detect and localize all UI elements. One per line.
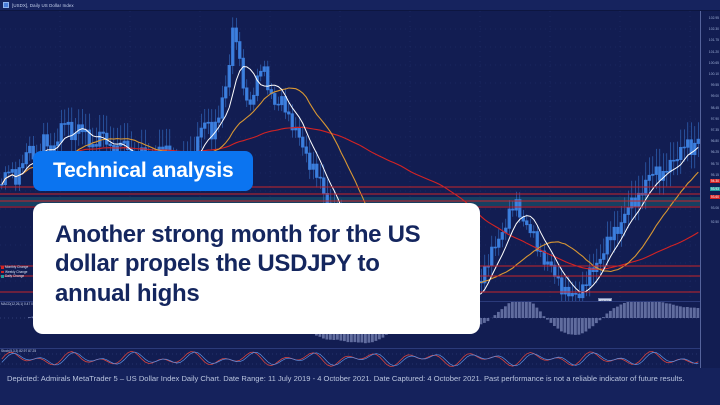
legend-label: Daily Change xyxy=(5,274,24,279)
price-axis[interactable]: 102.95102.30101.75101.20100.65100.1099.5… xyxy=(700,11,720,368)
price-axis-tick: 100.10 xyxy=(709,73,719,76)
price-axis-tick: 102.30 xyxy=(709,28,719,31)
legend-swatch-icon xyxy=(1,271,4,274)
price-axis-tag: 93.06 xyxy=(711,207,719,210)
price-axis-tick: 99.55 xyxy=(711,84,719,87)
price-axis-tick: 97.90 xyxy=(711,118,719,121)
oscillator-subchart[interactable] xyxy=(0,348,700,368)
price-axis-tick: 95.70 xyxy=(711,163,719,166)
price-axis-tick: 102.95 xyxy=(709,17,719,20)
price-axis-tick: 96.80 xyxy=(711,140,719,143)
price-axis-tag: 92.50 xyxy=(711,221,719,224)
legend-swatch-icon xyxy=(1,275,4,278)
chart-window-icon xyxy=(3,2,9,8)
chart-titlebar[interactable]: [USDX], Daily US Dollar Index xyxy=(0,0,720,11)
price-axis-tick: 100.65 xyxy=(709,62,719,65)
category-badge-label: Technical analysis xyxy=(53,159,233,183)
time-chip: 05:00 xyxy=(598,298,612,301)
oscillator-svg xyxy=(0,349,700,368)
price-axis-tick: 96.25 xyxy=(711,151,719,154)
price-axis-tick: 95.15 xyxy=(711,174,719,177)
price-axis-tag: 93.60 xyxy=(710,195,720,199)
price-axis-tick: 101.20 xyxy=(709,51,719,54)
oscillator-label: Stoch(5,3,3) 82.97 87.25 xyxy=(1,349,36,353)
category-badge[interactable]: Technical analysis xyxy=(33,151,253,191)
headline-text: Another strong month for the US dollar p… xyxy=(55,220,458,308)
price-axis-tick: 97.35 xyxy=(711,129,719,132)
price-axis-tick: 99.00 xyxy=(711,95,719,98)
caption-text: Depicted: Admirals MetaTrader 5 – US Dol… xyxy=(7,373,713,384)
price-axis-tag: 93.93 xyxy=(710,187,720,191)
legend-swatch-icon xyxy=(1,266,4,269)
price-axis-tick: 101.75 xyxy=(709,39,719,42)
price-axis-tag: 94.30 xyxy=(710,179,720,183)
price-axis-tick: 98.45 xyxy=(711,107,719,110)
caption-bar: Depicted: Admirals MetaTrader 5 – US Dol… xyxy=(0,368,720,405)
screenshot-root: [USDX], Daily US Dollar Index xyxy=(0,0,720,405)
headline-card: Another strong month for the US dollar p… xyxy=(33,203,480,334)
chart-title-text: [USDX], Daily US Dollar Index xyxy=(12,3,74,8)
